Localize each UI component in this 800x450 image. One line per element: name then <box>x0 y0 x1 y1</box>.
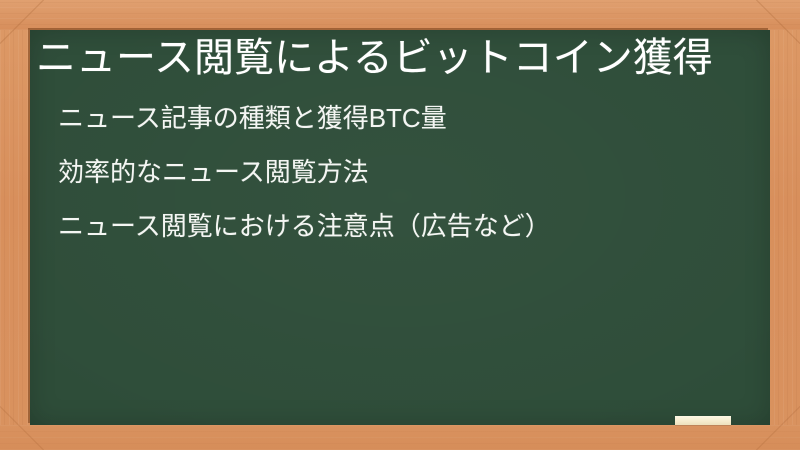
bullet-item-2: 効率的なニュース閲覧方法 <box>58 158 748 186</box>
bullet-item-1: ニュース記事の種類と獲得BTC量 <box>58 104 748 132</box>
chalkboard-content: ニュース閲覧によるビットコイン獲得 ニュース記事の種類と獲得BTC量 効率的なニ… <box>30 30 770 425</box>
frame-rail-bottom <box>0 425 800 450</box>
chalkboard-slide: ニュース閲覧によるビットコイン獲得 ニュース記事の種類と獲得BTC量 効率的なニ… <box>0 0 800 450</box>
chalk-stick-icon <box>675 416 731 425</box>
bullet-list: ニュース記事の種類と獲得BTC量 効率的なニュース閲覧方法 ニュース閲覧における… <box>58 104 748 240</box>
bullet-item-3: ニュース閲覧における注意点（広告など） <box>58 212 748 240</box>
frame-rail-top <box>0 0 800 30</box>
chalkboard-surface: ニュース閲覧によるビットコイン獲得 ニュース記事の種類と獲得BTC量 効率的なニ… <box>30 30 770 425</box>
slide-title: ニュース閲覧によるビットコイン獲得 <box>36 34 764 82</box>
